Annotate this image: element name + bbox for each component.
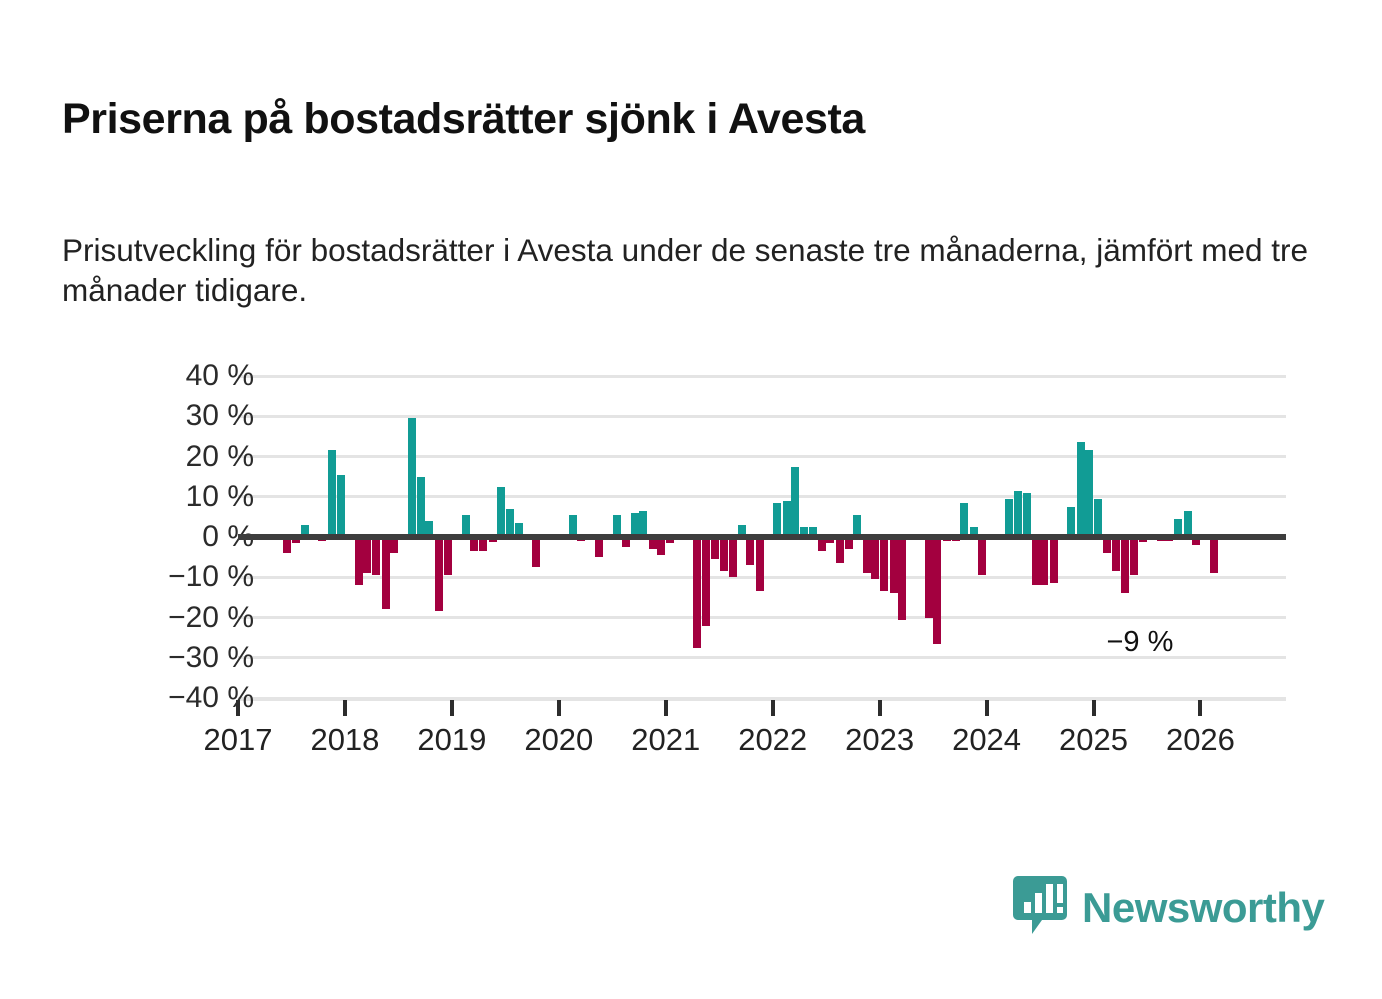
page-subtitle: Prisutveckling för bostadsrätter i Avest…: [62, 230, 1332, 311]
bar: [978, 537, 986, 575]
gridline: [238, 415, 1286, 418]
price-change-bar-chart: −9 % 40 %30 %20 %10 %0 %−10 %−20 %−30 %−…: [0, 350, 1382, 770]
bar: [1112, 537, 1120, 571]
x-axis-tick-label: 2026: [1140, 722, 1260, 758]
x-axis-tick: [236, 700, 240, 716]
bar: [925, 537, 933, 618]
bar: [863, 537, 871, 573]
bar: [711, 537, 719, 559]
bar: [1050, 537, 1058, 583]
zero-line: [238, 534, 1286, 540]
bar: [898, 537, 906, 620]
x-axis-tick: [1198, 700, 1202, 716]
bar: [1067, 507, 1075, 537]
bar: [1077, 442, 1085, 537]
bar: [337, 475, 345, 537]
x-axis-tick-label: 2022: [713, 722, 833, 758]
bar: [1023, 493, 1031, 537]
bar: [1040, 537, 1048, 585]
bar: [720, 537, 728, 571]
y-axis-tick-label: 0 %: [94, 522, 254, 552]
x-axis-tick-label: 2024: [927, 722, 1047, 758]
bar: [746, 537, 754, 565]
x-axis-tick-label: 2017: [178, 722, 298, 758]
y-axis-tick-label: −20 %: [94, 603, 254, 633]
x-axis-tick: [771, 700, 775, 716]
y-axis-tick-label: −30 %: [94, 643, 254, 673]
page-title: Priserna på bostadsrätter sjönk i Avesta: [62, 95, 1322, 143]
y-axis-tick-label: −40 %: [94, 683, 254, 713]
bar: [693, 537, 701, 648]
y-axis-tick-label: 20 %: [94, 442, 254, 472]
y-axis-tick-label: 40 %: [94, 361, 254, 391]
x-axis-tick-label: 2021: [606, 722, 726, 758]
bar: [532, 537, 540, 567]
bar: [1014, 491, 1022, 537]
bar: [836, 537, 844, 563]
bar: [506, 509, 514, 537]
y-axis-tick-label: −10 %: [94, 562, 254, 592]
bar: [773, 503, 781, 537]
bar: [363, 537, 371, 573]
last-value-annotation: −9 %: [1106, 626, 1173, 659]
gridline: [238, 375, 1286, 378]
bar: [1210, 537, 1218, 573]
x-axis-tick-label: 2025: [1034, 722, 1154, 758]
bar: [1130, 537, 1138, 575]
x-axis-tick: [450, 700, 454, 716]
y-axis-tick-label: 30 %: [94, 401, 254, 431]
bar: [880, 537, 888, 591]
x-axis-tick-label: 2023: [820, 722, 940, 758]
x-axis-tick: [557, 700, 561, 716]
bar: [382, 537, 390, 609]
bar: [871, 537, 879, 579]
bar: [1121, 537, 1129, 593]
x-axis-tick: [664, 700, 668, 716]
bar: [444, 537, 452, 575]
x-axis-tick: [985, 700, 989, 716]
x-axis-tick: [343, 700, 347, 716]
bar-chart-speech-bubble-icon: [1012, 874, 1068, 941]
x-axis-tick-label: 2018: [285, 722, 405, 758]
newsworthy-logo: Newsworthy: [1012, 874, 1324, 941]
bar: [783, 501, 791, 537]
brand-name: Newsworthy: [1082, 887, 1324, 929]
bar: [791, 467, 799, 537]
bar: [328, 450, 336, 537]
y-axis-tick-label: 10 %: [94, 482, 254, 512]
bar: [1005, 499, 1013, 537]
bar: [408, 418, 416, 537]
bar: [497, 487, 505, 537]
bar: [729, 537, 737, 577]
bar: [435, 537, 443, 611]
x-axis-line: [238, 698, 1286, 701]
x-axis-tick-label: 2019: [392, 722, 512, 758]
bar: [595, 537, 603, 557]
gridline: [238, 455, 1286, 458]
bar: [756, 537, 764, 591]
bar: [417, 477, 425, 537]
gridline: [238, 616, 1286, 619]
bar: [890, 537, 898, 593]
bar: [1094, 499, 1102, 537]
bar: [933, 537, 941, 644]
bar: [1085, 450, 1093, 537]
infographic-page: Priserna på bostadsrätter sjönk i Avesta…: [0, 0, 1382, 999]
x-axis-tick-label: 2020: [499, 722, 619, 758]
x-axis-tick: [878, 700, 882, 716]
bar: [702, 537, 710, 626]
bar: [372, 537, 380, 575]
gridline: [238, 495, 1286, 498]
bar: [355, 537, 363, 585]
bar: [1032, 537, 1040, 585]
bar: [960, 503, 968, 537]
x-axis-tick: [1092, 700, 1096, 716]
